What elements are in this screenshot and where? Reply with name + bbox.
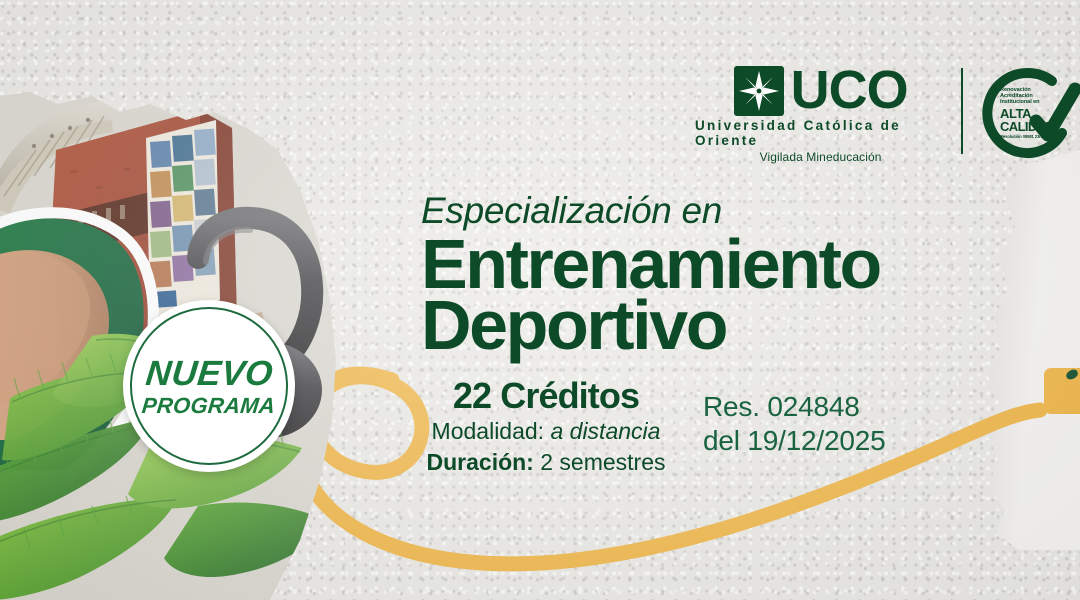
uco-logo: UCO Universidad Católica de Oriente Vigi… [695, 66, 946, 164]
pretitle: Especialización en [421, 192, 880, 229]
promotional-banner: NUEVO PROGRAMA [0, 0, 1080, 600]
headline-block: Especialización en Entrenamiento Deporti… [421, 192, 880, 358]
institution-name: Universidad Católica de Oriente [695, 118, 946, 148]
supervision-note: Vigilada Mineducación [760, 150, 882, 164]
uco-compass-star-icon [734, 66, 784, 116]
program-details: 22 Créditos Modalidad: a distancia Durac… [421, 378, 671, 476]
duration-line: Duración: 2 semestres [421, 449, 671, 476]
photo-collage [0, 0, 372, 600]
badge-line-1: NUEVO [144, 356, 275, 391]
duration-label: Duración: [427, 449, 534, 475]
modality-label: Modalidad: [432, 418, 545, 444]
seal-alta: ALTA [1000, 107, 1066, 121]
accreditation-seal: Renovación Acreditación Institucional en… [976, 67, 1080, 163]
duration-value: 2 semestres [540, 449, 665, 475]
modality-value: a distancia [550, 418, 660, 444]
resolution-line-2: del 19/12/2025 [703, 424, 885, 458]
resolution-block: Res. 024848 del 19/12/2025 [703, 390, 885, 458]
logo-divider [961, 68, 963, 154]
resolution-line-1: Res. 024848 [703, 390, 885, 424]
seal-resolution: Resolución 00981 23/05/2023 [1000, 135, 1066, 139]
seal-calidad: CALIDAD [1000, 120, 1066, 134]
uco-wordmark: UCO [791, 67, 908, 115]
logo-lockup: UCO Universidad Católica de Oriente Vigi… [695, 66, 1080, 164]
nuevo-programa-badge: NUEVO PROGRAMA [123, 300, 295, 472]
credits-value: 22 Créditos [421, 378, 671, 414]
seal-line-3: Institucional en [1000, 100, 1066, 106]
modality-line: Modalidad: a distancia [421, 418, 671, 445]
badge-line-2: PROGRAMA [141, 395, 276, 417]
